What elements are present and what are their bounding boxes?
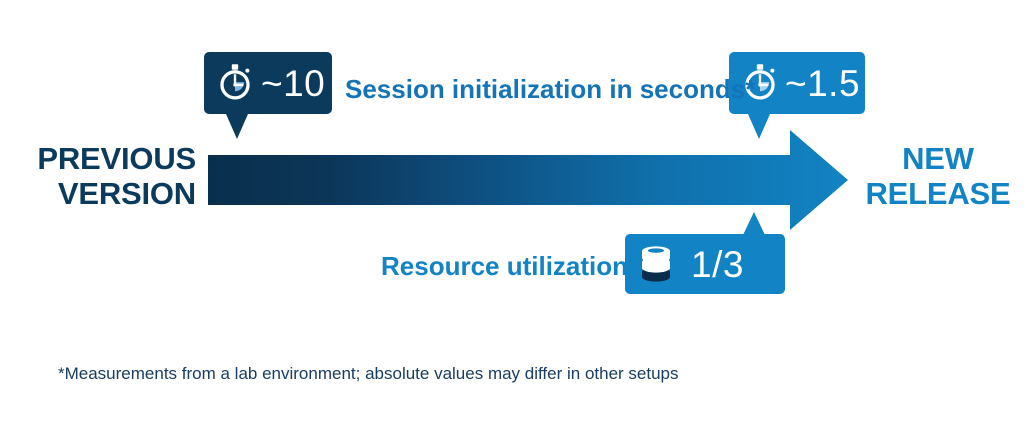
- resource-utilization-value: 1/3: [691, 246, 744, 283]
- callout-previous-session-time: ~10: [204, 52, 332, 114]
- resource-utilization-caption: Resource utilization: [381, 253, 628, 279]
- database-icon: [637, 242, 675, 286]
- callout-resource-utilization: 1/3: [625, 234, 785, 294]
- comparison-infographic: PREVIOUS VERSION NEW RELEASE ~10: [0, 0, 1024, 422]
- stopwatch-icon: [213, 61, 257, 105]
- callout-tail: [743, 212, 765, 235]
- previous-version-label: PREVIOUS VERSION: [8, 142, 196, 211]
- session-initialization-caption: Session initialization in seconds*: [345, 76, 755, 102]
- callout-tail: [748, 114, 770, 139]
- footnote-text: *Measurements from a lab environment; ab…: [58, 363, 679, 384]
- previous-session-time-value: ~10: [261, 65, 325, 102]
- new-release-label: NEW RELEASE: [856, 142, 1020, 211]
- callout-tail: [226, 114, 248, 139]
- new-session-time-value: ~1.5: [785, 65, 860, 102]
